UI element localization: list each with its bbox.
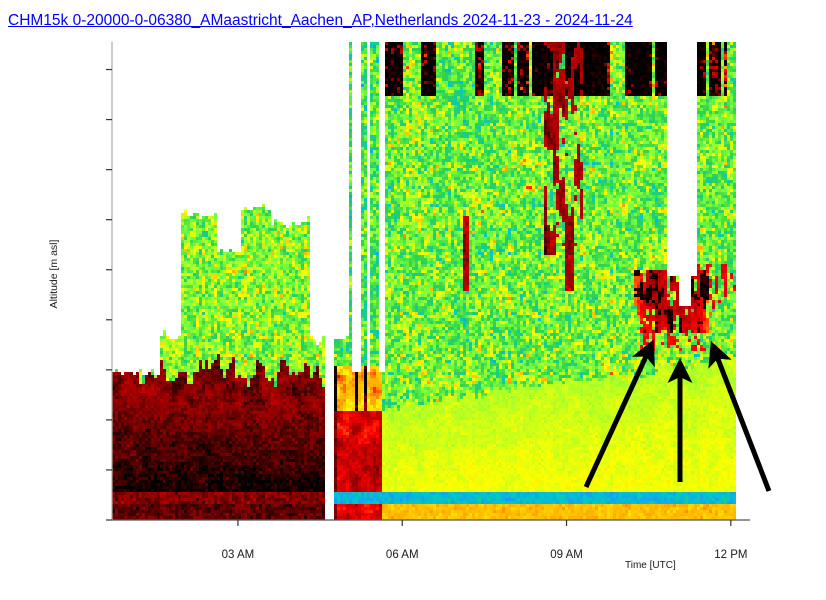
x-tick-label: 06 AM [386, 549, 419, 561]
ceilometer-plot: 01,0002,0003,0004,0005,0006,0007,0008,00… [0, 0, 826, 600]
x-axis-title: Time [UTC] [625, 560, 676, 571]
heatmap-area [112, 42, 750, 520]
x-tick-label: 12 PM [714, 549, 747, 561]
x-tick-label: 03 AM [222, 549, 255, 561]
y-axis-title: Altitude [m asl] [48, 214, 60, 334]
x-tick-label: 09 AM [550, 549, 583, 561]
backscatter-heatmap-canvas [112, 42, 750, 520]
x-tick-marks [238, 520, 731, 526]
